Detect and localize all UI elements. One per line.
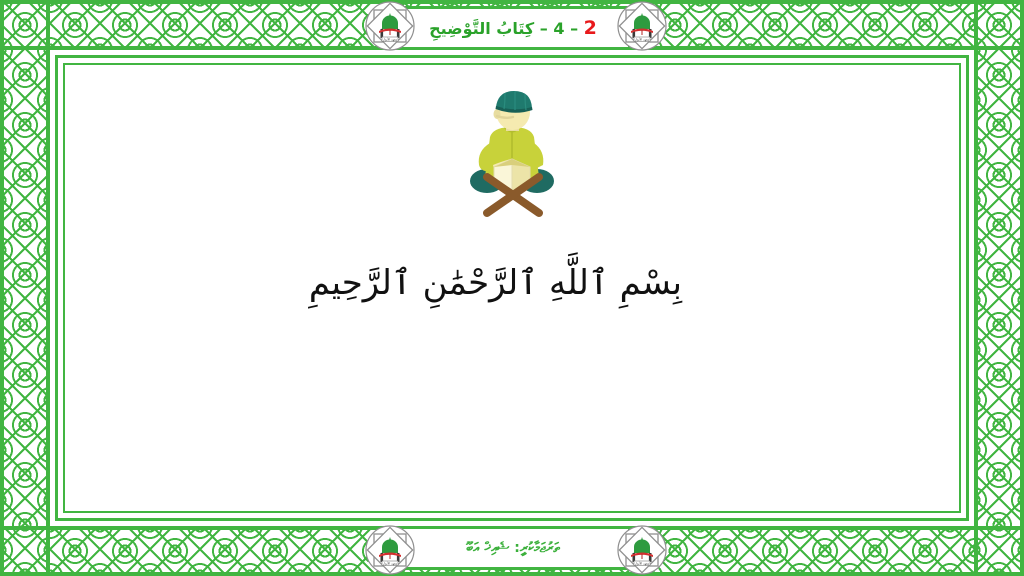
book-title-arabic: كِتَابُ التَّوْضِيحِ bbox=[429, 19, 534, 38]
svg-text:معهد الأنوار: معهد الأنوار bbox=[634, 562, 650, 566]
border-rule-outer-top bbox=[0, 0, 1024, 4]
boy-reading-quran-illustration bbox=[457, 89, 567, 219]
footer-plaque: ތަރުޖަމާކުރީ: ޝެއިޚް އަބޫ bbox=[398, 526, 628, 570]
border-lattice-right bbox=[974, 0, 1024, 576]
slide-page: بِسْمِ ٱللَّهِ ٱلرَّحْمَٰنِ ٱلرَّحِيمِ 2… bbox=[0, 0, 1024, 576]
svg-text:معهد الأنوار: معهد الأنوار bbox=[634, 38, 650, 42]
border-rule-outer-left bbox=[0, 0, 4, 576]
slide-content: بِسْمِ ٱللَّهِ ٱلرَّحْمَٰنِ ٱلرَّحِيمِ bbox=[65, 65, 959, 511]
title-separator-2: – bbox=[540, 19, 548, 38]
translator-credit: ތަރުޖަމާކުރީ: ޝެއިޚް އަބޫ bbox=[466, 541, 559, 555]
border-rule-outer-right bbox=[1020, 0, 1024, 576]
page-title: 2 – 4 – كِتَابُ التَّوْضِيحِ bbox=[429, 19, 597, 38]
institute-emblem-icon: معهد الأنوار bbox=[616, 524, 668, 576]
header-plaque: 2 – 4 – كِتَابُ التَّوْضِيحِ bbox=[398, 6, 628, 50]
part-number: 2 bbox=[584, 17, 597, 39]
institute-emblem-icon: معهد الأنوار bbox=[364, 524, 416, 576]
bismillah-text: بِسْمِ ٱللَّهِ ٱلرَّحْمَٰنِ ٱلرَّحِيمِ bbox=[342, 261, 682, 307]
svg-text:معهد الأنوار: معهد الأنوار bbox=[382, 38, 398, 42]
institute-emblem-icon: معهد الأنوار bbox=[616, 0, 668, 52]
border-rule-outer-bottom bbox=[0, 572, 1024, 576]
title-separator-1: – bbox=[570, 19, 578, 38]
border-lattice-left bbox=[0, 0, 50, 576]
border-rule-inner-right bbox=[974, 0, 978, 576]
bismillah-calligraphy: بِسْمِ ٱللَّهِ ٱلرَّحْمَٰنِ ٱلرَّحِيمِ bbox=[342, 261, 682, 323]
institute-emblem-icon: معهد الأنوار bbox=[364, 0, 416, 52]
border-rule-inner-left bbox=[46, 0, 50, 576]
lesson-number: 4 bbox=[553, 19, 564, 38]
svg-text:معهد الأنوار: معهد الأنوار bbox=[382, 562, 398, 566]
